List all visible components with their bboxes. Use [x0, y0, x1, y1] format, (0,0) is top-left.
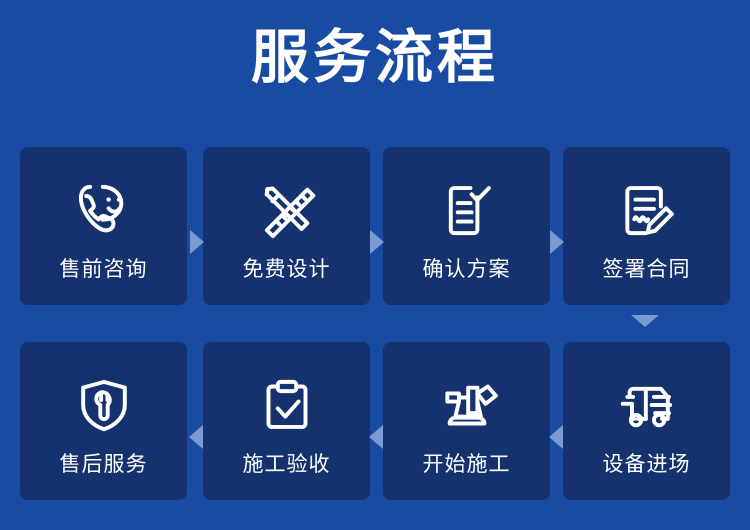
shield-wrench-icon: [67, 368, 141, 442]
process-step-label-6: 开始施工: [423, 454, 511, 475]
phone-smiley-icon: [67, 173, 141, 247]
process-step-label-7: 施工验收: [243, 454, 331, 475]
process-step-label-3: 确认方案: [423, 259, 511, 280]
connector-arrow-3-to-4: [550, 230, 564, 254]
pencil-ruler-icon: [250, 173, 324, 247]
process-step-card-4[interactable]: 签署合同: [563, 147, 730, 305]
contract-signature-icon: [610, 173, 684, 247]
process-step-card-8[interactable]: 售后服务: [20, 342, 187, 500]
delivery-truck-icon: [610, 368, 684, 442]
clipboard-check-icon: [250, 368, 324, 442]
process-step-label-4: 签署合同: [603, 259, 691, 280]
service-process-infographic: 服务流程 售前咨询: [0, 0, 750, 530]
connector-arrow-4-to-5: [631, 315, 659, 327]
process-step-card-7[interactable]: 施工验收: [203, 342, 370, 500]
process-step-label-5: 设备进场: [603, 454, 691, 475]
connector-arrow-7-to-8: [189, 425, 203, 449]
connector-arrow-1-to-2: [190, 230, 204, 254]
excavator-icon: [430, 368, 504, 442]
process-step-card-6[interactable]: 开始施工: [383, 342, 550, 500]
process-step-label-8: 售后服务: [60, 454, 148, 475]
connector-arrow-6-to-7: [369, 425, 383, 449]
page-title: 服务流程: [0, 24, 750, 91]
process-step-label-1: 售前咨询: [60, 259, 148, 280]
connector-arrow-2-to-3: [370, 230, 384, 254]
process-step-card-2[interactable]: 免费设计: [203, 147, 370, 305]
process-step-card-1[interactable]: 售前咨询: [20, 147, 187, 305]
connector-arrow-5-to-6: [549, 425, 563, 449]
checklist-document-icon: [430, 173, 504, 247]
process-step-card-3[interactable]: 确认方案: [383, 147, 550, 305]
process-steps-grid: 售前咨询 免费设计: [20, 147, 722, 500]
process-step-card-5[interactable]: 设备进场: [563, 342, 730, 500]
process-step-label-2: 免费设计: [243, 259, 331, 280]
